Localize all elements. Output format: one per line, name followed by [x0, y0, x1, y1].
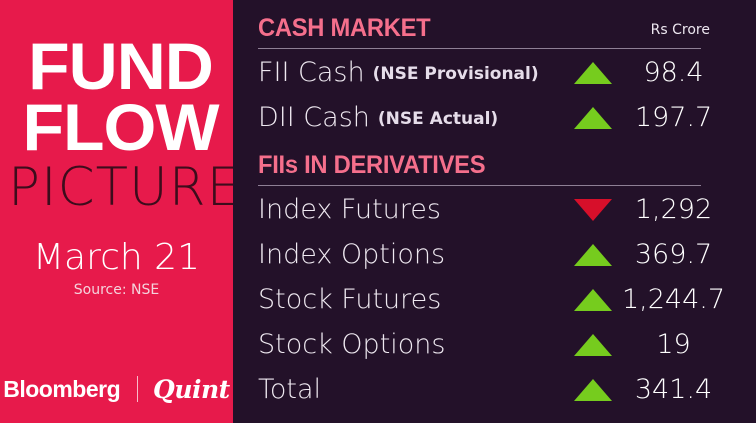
table-row: Index Options 369.7	[258, 232, 725, 277]
row-name: Index Options	[258, 239, 445, 270]
section-header: FIIs IN DERIVATIVES	[258, 151, 725, 185]
section-title: FIIs IN DERIVATIVES	[258, 151, 485, 180]
section-title: CASH MARKET	[258, 14, 430, 43]
title-line-fund: FUND	[5, 36, 233, 97]
row-name: DII Cash	[258, 102, 370, 133]
data-panel: CASH MARKET Rs Crore FII Cash (NSE Provi…	[233, 0, 756, 423]
row-note: (NSE Actual)	[378, 109, 498, 129]
row-value: 1,292	[622, 187, 725, 232]
table-row: Index Futures 1,292	[258, 187, 725, 232]
arrow-up-icon	[564, 50, 622, 95]
row-note: (NSE Provisional)	[373, 64, 539, 84]
section-rows: Index Futures 1,292 Index Options 369.7	[258, 187, 725, 412]
branding-panel: FUND FLOW PICTURE March 21 Source: NSE B…	[0, 0, 233, 423]
arrow-down-icon	[564, 187, 622, 232]
table-row: FII Cash (NSE Provisional) 98.4	[258, 50, 725, 95]
logo-quint-text: Quint	[153, 375, 230, 404]
unit-label: Rs Crore	[651, 22, 710, 38]
date-label: March 21	[0, 239, 233, 277]
section-header: CASH MARKET Rs Crore	[258, 14, 725, 48]
row-name: Index Futures	[258, 194, 441, 225]
row-label: Stock Futures	[258, 277, 449, 322]
row-label: FII Cash (NSE Provisional)	[258, 50, 539, 95]
row-label: Total	[258, 367, 329, 412]
arrow-up-icon	[564, 232, 622, 277]
section-fiis-in-derivatives: FIIs IN DERIVATIVES Index Futures 1,292 …	[258, 151, 725, 185]
bloombergquint-logo: Bloomberg Quint	[0, 375, 233, 404]
row-label: DII Cash (NSE Actual)	[258, 95, 498, 140]
section-cash-market: CASH MARKET Rs Crore FII Cash (NSE Provi…	[258, 14, 725, 48]
row-label: Stock Options	[258, 322, 453, 367]
row-name: Stock Futures	[258, 284, 441, 315]
arrow-up-icon	[564, 277, 622, 322]
table-row: Stock Options 19	[258, 322, 725, 367]
row-value: 369.7	[622, 232, 725, 277]
row-value: 19	[622, 322, 725, 367]
graphic-title: FUND FLOW PICTURE	[8, 36, 233, 214]
row-name: Stock Options	[258, 329, 445, 360]
section-rows: FII Cash (NSE Provisional) 98.4 DII Cash…	[258, 50, 725, 140]
arrow-up-icon	[564, 367, 622, 412]
title-line-flow: FLOW	[5, 97, 233, 158]
arrow-up-icon	[564, 95, 622, 140]
logo-bloomberg-text: Bloomberg	[3, 376, 120, 402]
row-value: 98.4	[622, 50, 725, 95]
section-divider	[258, 48, 701, 49]
row-value: 341.4	[622, 367, 725, 412]
row-label: Index Futures	[258, 187, 449, 232]
table-row: DII Cash (NSE Actual) 197.7	[258, 95, 725, 140]
row-name: Total	[258, 374, 321, 405]
row-value: 1,244.7	[622, 277, 725, 322]
title-line-picture: PICTURE	[8, 161, 233, 214]
row-value: 197.7	[622, 95, 725, 140]
arrow-up-icon	[564, 322, 622, 367]
fund-flow-picture-graphic: FUND FLOW PICTURE March 21 Source: NSE B…	[0, 0, 756, 423]
logo-divider	[137, 376, 138, 402]
table-row-total: Total 341.4	[258, 367, 725, 412]
date-block: March 21 Source: NSE	[0, 239, 233, 300]
row-label: Index Options	[258, 232, 453, 277]
table-row: Stock Futures 1,244.7	[258, 277, 725, 322]
source-label: Source: NSE	[0, 281, 233, 301]
row-name: FII Cash	[258, 57, 365, 88]
section-divider	[258, 185, 701, 186]
